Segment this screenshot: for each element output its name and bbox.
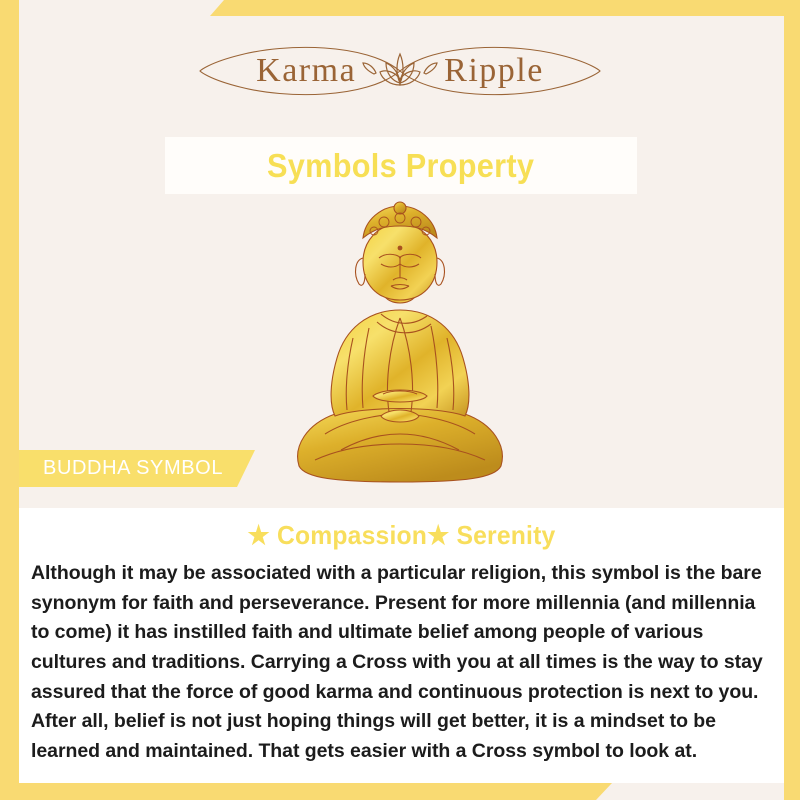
badge-label: BUDDHA SYMBOL — [43, 457, 223, 480]
brand-logo: Karma Ripple — [0, 40, 800, 102]
title-band: Symbols Property — [165, 137, 637, 194]
section-subtitle: ★ Compassion★ Serenity — [38, 520, 765, 551]
lotus-infinity-ornament-icon — [190, 41, 610, 101]
brand-word-right: Ripple — [444, 54, 544, 88]
status-badge: BUDDHA SYMBOL — [19, 450, 255, 487]
brand-logo-inner: Karma Ripple — [256, 54, 544, 88]
decorative-band-top — [210, 0, 800, 16]
hero-image — [0, 196, 800, 486]
content-panel: ★ Compassion★ Serenity Although it may b… — [19, 508, 784, 783]
promo-graphic: Karma Ripple Symbols Property — [0, 0, 800, 800]
decorative-band-bottom — [0, 783, 612, 800]
golden-buddha-statue-icon — [285, 198, 515, 486]
brand-word-left: Karma — [256, 54, 356, 88]
body-paragraph: Although it may be associated with a par… — [31, 559, 772, 766]
page-title: Symbols Property — [267, 147, 534, 185]
